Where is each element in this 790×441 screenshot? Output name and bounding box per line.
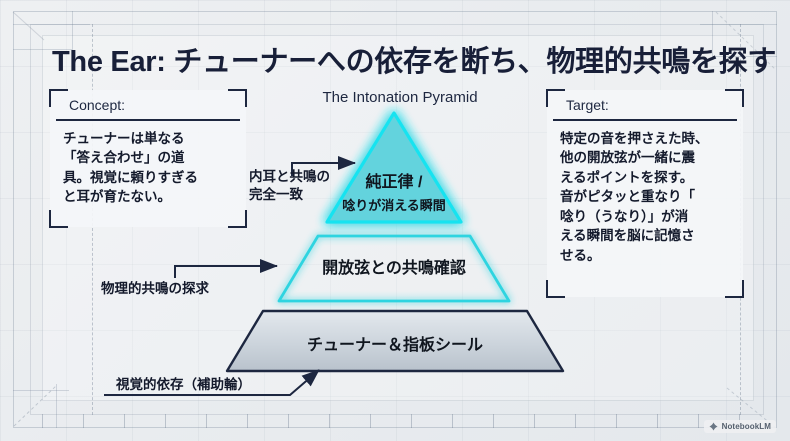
bracket-bottom-left (49, 210, 68, 228)
annotation-inner-ear-resonance: 内耳と共鳴の 完全一致 (249, 168, 330, 204)
slide-canvas: The Ear: チューナーへの依存を断ち、物理的共鳴を探す The Inton… (0, 0, 790, 441)
bracket-bottom-left (546, 280, 565, 298)
concept-card: Concept: チューナーは単なる 「答え合わせ」の道 具。視覚に頼りすぎる … (50, 90, 246, 227)
annotation-visual-dependence: 視覚的依存（補助輪） (116, 376, 251, 394)
target-card-body: 特定の音を押さえた時、 他の開放弦が一緒に震 えるポイントを探す。 音がピタッと… (547, 121, 743, 271)
concept-card-body: チューナーは単なる 「答え合わせ」の道 具。視覚に頼りすぎる と耳が育たない。 (50, 121, 246, 213)
target-card: Target: 特定の音を押さえた時、 他の開放弦が一緒に震 えるポイントを探す… (547, 90, 743, 297)
bracket-top-right (228, 89, 247, 107)
bracket-top-left (49, 89, 68, 107)
watermark-label: NotebookLM (722, 422, 771, 431)
bracket-bottom-right (725, 280, 744, 298)
target-card-heading: Target: (553, 90, 737, 121)
arrow-to-middle (175, 266, 277, 278)
annotation-physical-resonance: 物理的共鳴の探求 (101, 280, 209, 298)
bracket-top-right (725, 89, 744, 107)
notebooklm-icon (709, 422, 718, 431)
watermark: NotebookLM (704, 420, 776, 433)
bracket-top-left (546, 89, 565, 107)
bracket-bottom-right (228, 210, 247, 228)
concept-card-heading: Concept: (56, 90, 240, 121)
